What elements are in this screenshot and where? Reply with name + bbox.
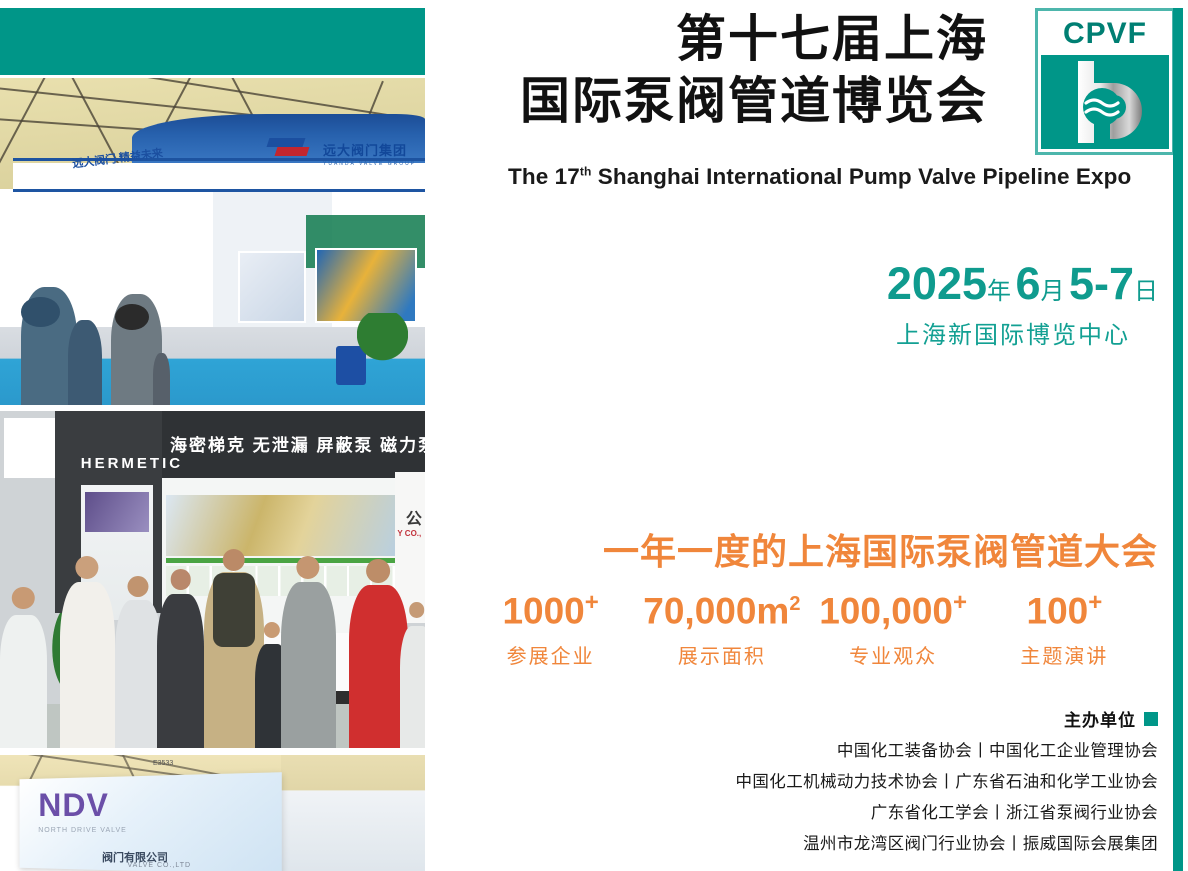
neighbour-sign-en: Y CO.,: [397, 529, 421, 538]
stat-label: 展示面积: [636, 640, 807, 669]
title-en-prefix: The 17: [508, 164, 580, 189]
event-venue: 上海新国际博览中心: [896, 315, 1130, 350]
stat-plus: +: [585, 589, 599, 616]
stat-value: 100,000: [819, 590, 953, 631]
cpvf-logo-text: CPVF: [1041, 14, 1169, 55]
photo-ndv-booth: E3533 NDV NORTH DRIVE VALVE 阀门有限公司 VALVE…: [0, 755, 425, 871]
stat-value: 100: [1027, 590, 1089, 631]
organizer-line: 中国化工装备协会丨中国化工企业管理协会: [736, 736, 1159, 767]
cpvf-logo-mark-icon: [1041, 55, 1169, 150]
organizer-line: 中国化工机械动力技术协会丨广东省石油和化学工业协会: [736, 767, 1159, 798]
visitor: [68, 320, 102, 405]
teal-square-icon: [1144, 712, 1158, 726]
visitor: [281, 559, 336, 748]
stat-number: 70,000m2: [636, 580, 807, 634]
adjacent-booth: [281, 755, 426, 871]
title-en-rest: Shanghai International Pump Valve Pipeli…: [591, 164, 1131, 189]
visitor: [60, 559, 115, 748]
stat-label: 参展企业: [465, 640, 636, 669]
stat-label: 主题演讲: [979, 640, 1150, 669]
stat-item: 70,000m2 展示面积: [636, 580, 807, 669]
neighbour-booth-sign: [4, 418, 55, 479]
backpack: [213, 573, 256, 647]
stat-number: 1000+: [465, 580, 636, 634]
potted-plant: [357, 313, 408, 385]
photo-column: 远大阀门 精益未来 远大阀门集团 YUANDA VALVE GROUP: [0, 0, 430, 871]
ndv-brand-sub: NORTH DRIVE VALVE: [38, 827, 127, 834]
cpvf-logo: CPVF: [1035, 8, 1175, 155]
stats-row: 1000+ 参展企业 70,000m2 展示面积 100,000+ 专业观众 1…: [455, 580, 1160, 669]
title-en: The 17th Shanghai International Pump Val…: [508, 164, 1131, 190]
visitor: [153, 353, 170, 405]
event-date: 2025年 6月 5-7日: [887, 258, 1158, 310]
stat-item: 1000+ 参展企业: [465, 580, 636, 669]
right-teal-bar: [1173, 8, 1183, 871]
organizers-list: 中国化工装备协会丨中国化工企业管理协会 中国化工机械动力技术协会丨广东省石油和化…: [736, 736, 1159, 860]
stat-number: 100,000+: [808, 580, 979, 634]
neighbour-sign-cn: 公: [406, 505, 422, 529]
visitor: [400, 606, 426, 748]
visitor: [157, 573, 204, 748]
title-en-ordinal: th: [580, 165, 592, 179]
teal-accent-block: [0, 8, 425, 75]
product-banner: [166, 495, 396, 556]
title-cn-line2: 国际泵阀管道博览会: [520, 70, 988, 132]
visitor: [0, 593, 47, 748]
yuanda-logo-icon: [268, 135, 319, 161]
organizer-line: 广东省化工学会丨浙江省泵阀行业协会: [736, 798, 1159, 829]
booth-number: E3533: [153, 760, 173, 767]
content-column: 第十七届上海 国际泵阀管道博览会 CPVF: [430, 0, 1188, 871]
stat-plus: +: [1088, 589, 1102, 616]
event-month-unit: 月: [1041, 278, 1065, 305]
organizer-line: 温州市龙湾区阀门行业协会丨振威国际会展集团: [736, 829, 1159, 860]
booth-poster-2: [315, 248, 417, 323]
booth-poster-1: [238, 251, 306, 323]
event-days: 5-7: [1069, 258, 1134, 309]
stat-item: 100,000+ 专业观众: [808, 580, 979, 669]
hermetic-headline-cn: 海密梯克 无泄漏 屏蔽泵 磁力泵: [170, 431, 425, 456]
organizers-heading-label: 主办单位: [1064, 706, 1136, 731]
stat-value: 1000: [502, 590, 584, 631]
stat-value: 70,000m: [643, 590, 789, 631]
visitor: [115, 580, 162, 749]
page-title: 第十七届上海 国际泵阀管道博览会: [520, 8, 988, 132]
ndv-company-en: VALVE CO.,LTD: [128, 862, 192, 869]
stat-number: 100+: [979, 580, 1150, 634]
hermetic-brand-label: HERMETIC: [81, 455, 183, 472]
event-month: 6: [1015, 258, 1040, 309]
title-cn-line1: 第十七届上海: [520, 8, 988, 70]
stat-plus: +: [953, 589, 967, 616]
event-day-unit: 日: [1134, 278, 1158, 305]
stat-sup: 2: [789, 593, 800, 615]
photo-yuanda-valve-booth: 远大阀门 精益未来 远大阀门集团 YUANDA VALVE GROUP: [0, 78, 425, 405]
organizers-heading: 主办单位: [1064, 706, 1158, 731]
stat-label: 专业观众: [808, 640, 979, 669]
stat-item: 100+ 主题演讲: [979, 580, 1150, 669]
booth-brand-cn: 远大阀门集团: [323, 140, 407, 159]
event-year: 2025: [887, 258, 987, 309]
event-year-unit: 年: [987, 278, 1011, 305]
photo-hermetic-booth: HERMETIC 海密梯克 无泄漏 屏蔽泵 磁力泵 公 Y CO.,: [0, 411, 425, 748]
side-product-image: [85, 492, 149, 532]
promo-slogan: 一年一度的上海国际泵阀管道大会: [603, 523, 1158, 575]
booth-brand-en: YUANDA VALVE GROUP: [323, 161, 416, 167]
ndv-brand-label: NDV: [38, 787, 109, 824]
